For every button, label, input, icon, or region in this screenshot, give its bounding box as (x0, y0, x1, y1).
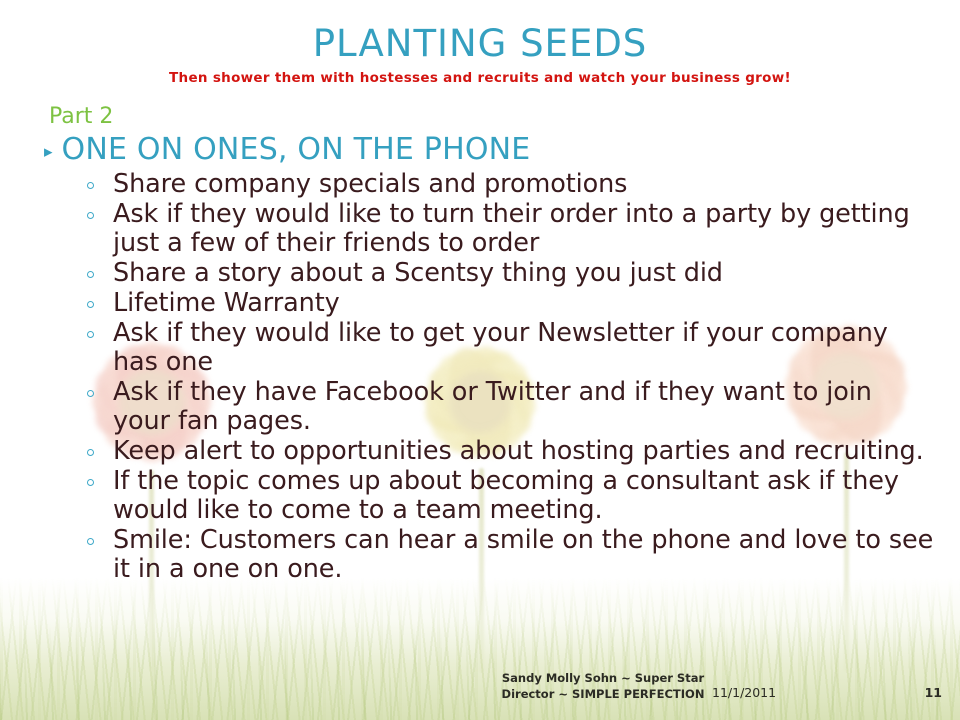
slide-title: PLANTING SEEDS (0, 22, 960, 65)
circle-bullet-icon (87, 390, 94, 397)
circle-bullet-icon (87, 331, 94, 338)
list-item-text: Smile: Customers can hear a smile on the… (113, 525, 933, 584)
slide-subtitle: Then shower them with hostesses and recr… (0, 70, 960, 86)
presentation-slide: PLANTING SEEDS Then shower them with hos… (0, 0, 960, 720)
list-item: Lifetime Warranty (86, 289, 934, 318)
circle-bullet-icon (87, 182, 94, 189)
footer-date: 11/1/2011 (712, 685, 776, 700)
list-item: Ask if they would like to get your Newsl… (86, 319, 934, 377)
list-item-text: Ask if they would like to turn their ord… (113, 199, 910, 258)
list-item-text: If the topic comes up about becoming a c… (113, 466, 899, 525)
arrow-bullet-icon: ▸ (44, 133, 53, 161)
list-item: Share a story about a Scentsy thing you … (86, 259, 934, 288)
list-item: Keep alert to opportunities about hostin… (86, 437, 934, 466)
list-item-text: Share a story about a Scentsy thing you … (113, 258, 723, 288)
circle-bullet-icon (87, 479, 94, 486)
slide-footer: Sandy Molly Sohn ~ Super Star Director ~… (0, 670, 960, 712)
slide-body: Part 2 ▸ ONE ON ONES, ON THE PHONE Share… (44, 104, 934, 585)
circle-bullet-icon (87, 449, 94, 456)
list-item-text: Lifetime Warranty (113, 288, 340, 318)
circle-bullet-icon (87, 538, 94, 545)
list-item-text: Share company specials and promotions (113, 169, 627, 199)
list-item: Smile: Customers can hear a smile on the… (86, 526, 934, 584)
footer-page-number: 11 (925, 685, 942, 700)
list-item: Share company specials and promotions (86, 170, 934, 199)
footer-author: Sandy Molly Sohn ~ Super Star Director ~… (498, 670, 708, 703)
circle-bullet-icon (87, 212, 94, 219)
circle-bullet-icon (87, 301, 94, 308)
bullet-list: Share company specials and promotions As… (44, 170, 934, 583)
list-item-text: Ask if they have Facebook or Twitter and… (113, 377, 872, 436)
list-item: Ask if they would like to turn their ord… (86, 200, 934, 258)
part-label: Part 2 (49, 104, 934, 131)
list-item: If the topic comes up about becoming a c… (86, 467, 934, 525)
list-item-text: Ask if they would like to get your Newsl… (113, 318, 888, 377)
list-item-text: Keep alert to opportunities about hostin… (113, 436, 924, 466)
list-item: Ask if they have Facebook or Twitter and… (86, 378, 934, 436)
section-heading: ONE ON ONES, ON THE PHONE (62, 133, 531, 167)
section-heading-row: ▸ ONE ON ONES, ON THE PHONE (44, 133, 934, 167)
circle-bullet-icon (87, 271, 94, 278)
slide-content: PLANTING SEEDS Then shower them with hos… (0, 0, 960, 720)
